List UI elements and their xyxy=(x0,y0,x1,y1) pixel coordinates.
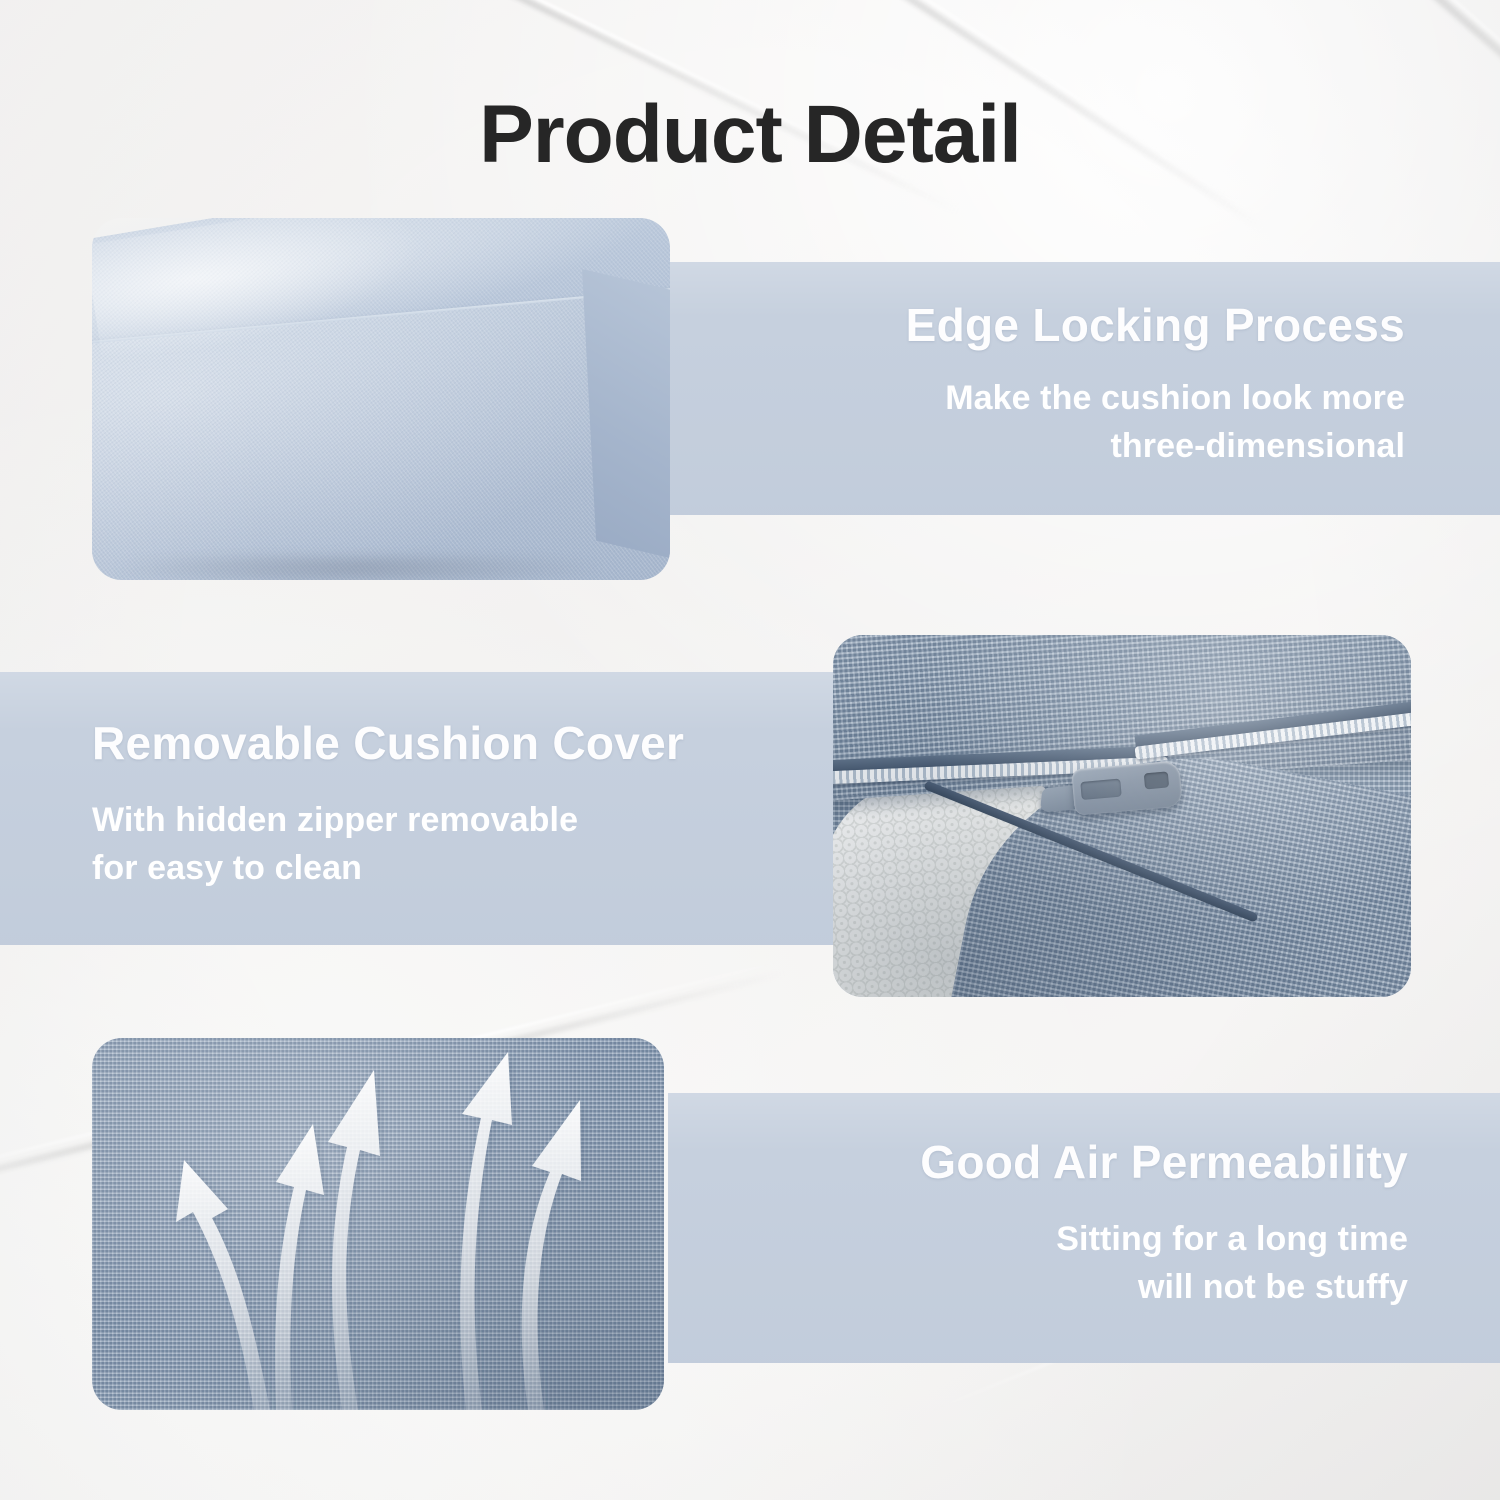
cushion-side-face xyxy=(582,269,670,565)
feature-heading-edge-locking: Edge Locking Process xyxy=(906,298,1405,352)
airflow-arrow-icon xyxy=(522,1100,581,1410)
air-permeability-photo xyxy=(92,1038,664,1410)
edge-locking-photo xyxy=(92,218,670,580)
page-title: Product Detail xyxy=(0,88,1500,182)
feature-band-removable-cover: Removable Cushion Cover With hidden zipp… xyxy=(0,672,838,945)
feature-subtitle-line2: will not be stuffy xyxy=(1056,1263,1408,1311)
feature-subtitle-line1: Sitting for a long time xyxy=(1056,1215,1408,1263)
feature-heading-air-permeability: Good Air Permeability xyxy=(920,1135,1408,1189)
feature-band-air-permeability: Good Air Permeability Sitting for a long… xyxy=(668,1093,1500,1363)
airflow-arrow-icon xyxy=(176,1160,270,1410)
feature-band-edge-locking: Edge Locking Process Make the cushion lo… xyxy=(665,262,1500,515)
feature-heading-removable-cover: Removable Cushion Cover xyxy=(92,716,684,770)
airflow-arrow-group xyxy=(92,1038,664,1410)
product-detail-infographic: Product Detail Edge Locking Process Make… xyxy=(0,0,1500,1500)
removable-cover-photo xyxy=(833,635,1411,997)
airflow-arrow-icon xyxy=(328,1070,380,1410)
feature-subtitle-line2: for easy to clean xyxy=(92,844,578,892)
photo-lighting-overlay xyxy=(833,635,1411,997)
feature-subtitle-line2: three-dimensional xyxy=(945,422,1405,470)
feature-subtitle-line1: With hidden zipper removable xyxy=(92,796,578,844)
feature-subtitle-removable-cover: With hidden zipper removable for easy to… xyxy=(92,796,578,893)
cushion-drop-shadow xyxy=(115,555,601,580)
feature-subtitle-air-permeability: Sitting for a long time will not be stuf… xyxy=(1056,1215,1408,1312)
airflow-arrow-icon xyxy=(460,1052,512,1410)
airflow-arrow-icon xyxy=(275,1124,324,1410)
feature-subtitle-edge-locking: Make the cushion look more three-dimensi… xyxy=(945,374,1405,471)
feature-subtitle-line1: Make the cushion look more xyxy=(945,374,1405,422)
